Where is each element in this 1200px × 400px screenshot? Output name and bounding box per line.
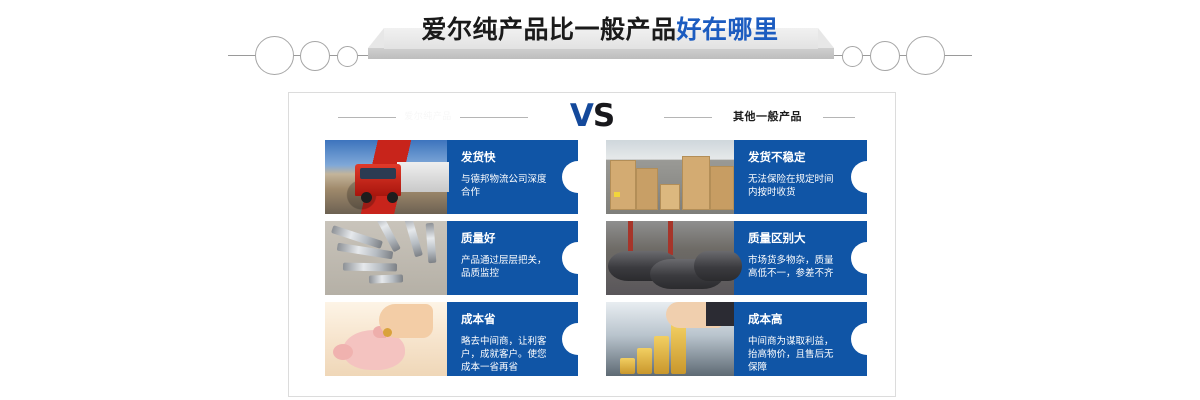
drawbacks-column: 发货不稳定 无法保险在规定时间内按时收货 质量区别大 市场货多物杂，质量高低不一… xyxy=(606,140,867,383)
advantage-card-text: 发货快 与德邦物流公司深度合作 xyxy=(447,140,578,214)
advantage-card-title: 质量好 xyxy=(461,232,548,245)
advantage-card[interactable]: 成本省 略去中间商，让利客户，成就客户。使您成本一省再省 xyxy=(325,302,578,376)
metal-tube-shape xyxy=(426,223,437,263)
advantage-card-body: 与德邦物流公司深度合作 xyxy=(461,173,548,199)
vs-label: VS xyxy=(288,96,896,136)
carton-box-shape xyxy=(610,160,636,210)
drawback-card-title: 成本高 xyxy=(748,313,837,326)
metal-tube-shape xyxy=(343,263,397,272)
drawback-card-body: 中间商为谋取利益，抬高物价，且售后无保障 xyxy=(748,335,837,374)
circle-decoration-icon xyxy=(337,46,358,67)
metal-tube-shape xyxy=(337,243,394,260)
drawback-card-body: 无法保险在规定时间内按时收货 xyxy=(748,173,837,199)
coin-stack-shape xyxy=(620,358,635,374)
truck-windshield-shape xyxy=(360,168,396,179)
carton-box-shape xyxy=(710,166,734,210)
metal-tube-shape xyxy=(403,221,423,257)
drawback-card[interactable]: 成本高 中间商为谋取利益，抬高物价，且售后无保障 xyxy=(606,302,867,376)
drawback-card[interactable]: 质量区别大 市场货多物杂，质量高低不一，参差不齐 xyxy=(606,221,867,295)
advantage-card-title: 成本省 xyxy=(461,313,548,326)
coin-stack-shape xyxy=(637,348,652,374)
drawback-card-body: 市场货多物杂，质量高低不一，参差不齐 xyxy=(748,254,837,280)
versus-row: 爱尔纯产品 其他一般产品 VS xyxy=(288,96,896,140)
carton-box-shape xyxy=(636,168,658,210)
metal-tube-shape xyxy=(369,274,403,283)
truck-wheel-shape xyxy=(361,192,372,203)
coin-stack-shape xyxy=(654,336,669,374)
advantage-card-text: 成本省 略去中间商，让利客户，成就客户。使您成本一省再省 xyxy=(447,302,578,376)
black-plastic-pipes-photo xyxy=(606,221,734,295)
truck-wheel-shape xyxy=(387,192,398,203)
page-title-highlight: 好在哪里 xyxy=(677,15,779,44)
advantage-card-body: 产品通过层层把关，品质监控 xyxy=(461,254,548,280)
plaque-front-face xyxy=(368,48,834,59)
truck-trailer-shape xyxy=(397,162,449,192)
circle-decoration-icon xyxy=(842,46,863,67)
advantage-card[interactable]: 质量好 产品通过层层把关，品质监控 xyxy=(325,221,578,295)
carton-box-shape xyxy=(660,184,680,210)
page-header: 爱尔纯产品比一般产品好在哪里 xyxy=(0,0,1200,82)
warehouse-cartons-photo xyxy=(606,140,734,214)
drawback-card[interactable]: 发货不稳定 无法保险在规定时间内按时收货 xyxy=(606,140,867,214)
piggy-snout-shape xyxy=(333,344,353,360)
advantages-column: 发货快 与德邦物流公司深度合作 质量好 产品通过层层把关，品质监控 xyxy=(325,140,578,383)
drawback-card-title: 质量区别大 xyxy=(748,232,837,245)
red-truck-highway-photo xyxy=(325,140,447,214)
shirt-cuff-shape xyxy=(706,302,734,326)
box-label-tag-shape xyxy=(614,192,620,197)
carton-box-shape xyxy=(682,156,710,210)
drawback-card-text: 质量区别大 市场货多物杂，质量高低不一，参差不齐 xyxy=(734,221,867,295)
vs-letter-v: V xyxy=(570,98,593,134)
red-frame-post-shape xyxy=(628,221,633,255)
advantage-card-title: 发货快 xyxy=(461,151,548,164)
drawback-card-text: 发货不稳定 无法保险在规定时间内按时收货 xyxy=(734,140,867,214)
gold-coin-stacks-photo xyxy=(606,302,734,376)
page-title: 爱尔纯产品比一般产品好在哪里 xyxy=(0,10,1200,46)
drawback-card-text: 成本高 中间商为谋取利益，抬高物价，且售后无保障 xyxy=(734,302,867,376)
piggy-bank-savings-photo xyxy=(325,302,447,376)
page-title-plain: 爱尔纯产品比一般产品 xyxy=(421,15,676,44)
coin-shape xyxy=(383,328,392,337)
advantage-card[interactable]: 发货快 与德邦物流公司深度合作 xyxy=(325,140,578,214)
metal-filter-tubes-photo xyxy=(325,221,447,295)
drawback-card-title: 发货不稳定 xyxy=(748,151,837,164)
coin-stack-shape xyxy=(671,324,686,374)
vs-letter-s: S xyxy=(593,98,614,134)
advantage-card-text: 质量好 产品通过层层把关，品质监控 xyxy=(447,221,578,295)
red-frame-post-shape xyxy=(668,221,673,255)
advantage-card-body: 略去中间商，让利客户，成就客户。使您成本一省再省 xyxy=(461,335,548,374)
